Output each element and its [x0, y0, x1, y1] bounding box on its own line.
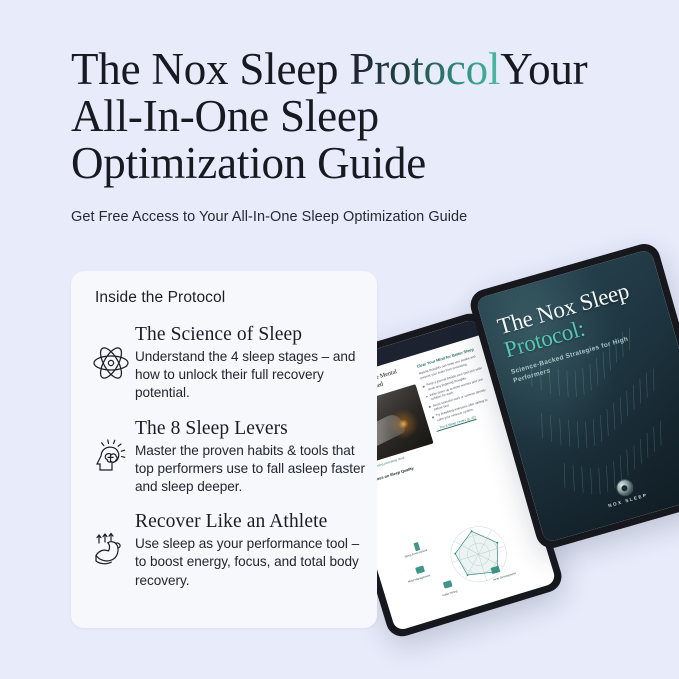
hero-section: The Nox Sleep ProtocolYour All-In-One Sl…	[71, 46, 611, 227]
atom-icon	[89, 341, 133, 385]
flexed-bicep-icon	[89, 528, 133, 572]
headline-accent-protocol: Protocol	[349, 44, 500, 94]
sleep-quality-radar-chart: Sleep Environment Mind Management Habit …	[370, 496, 556, 627]
feature-title: The Science of Sleep	[135, 323, 367, 347]
card-title: Inside the Protocol	[95, 289, 225, 307]
headline-plain: The Nox Sleep	[71, 44, 349, 94]
hero-subheadline: Get Free Access to Your All-In-One Sleep…	[71, 207, 611, 227]
feature-title: Recover Like an Athlete	[135, 510, 367, 534]
feature-body: Use sleep as your performance tool – to …	[135, 535, 367, 590]
feature-text: The Science of Sleep Understand the 4 sl…	[133, 323, 367, 403]
inside-the-protocol-card: Inside the Protocol The Science of Sleep…	[71, 271, 377, 628]
feature-body: Master the proven habits & tools that to…	[135, 442, 367, 497]
feature-item-sleep-levers: The 8 Sleep Levers Master the proven hab…	[89, 417, 367, 497]
feature-list: The Science of Sleep Understand the 4 sl…	[89, 323, 367, 604]
feature-item-recover-like-athlete: Recover Like an Athlete Use sleep as you…	[89, 510, 367, 590]
feature-text: Recover Like an Athlete Use sleep as you…	[133, 510, 367, 590]
feature-item-science-of-sleep: The Science of Sleep Understand the 4 sl…	[89, 323, 367, 403]
logo-emblem-icon	[615, 479, 634, 498]
feature-body: Understand the 4 sleep stages – and how …	[135, 348, 367, 403]
feature-text: The 8 Sleep Levers Master the proven hab…	[133, 417, 367, 497]
head-brain-idea-icon	[89, 435, 133, 479]
landing-page: The Nox Sleep ProtocolYour All-In-One Sl…	[0, 0, 679, 679]
feature-title: The 8 Sleep Levers	[135, 417, 367, 441]
page-title: The Nox Sleep ProtocolYour All-In-One Sl…	[71, 46, 611, 187]
